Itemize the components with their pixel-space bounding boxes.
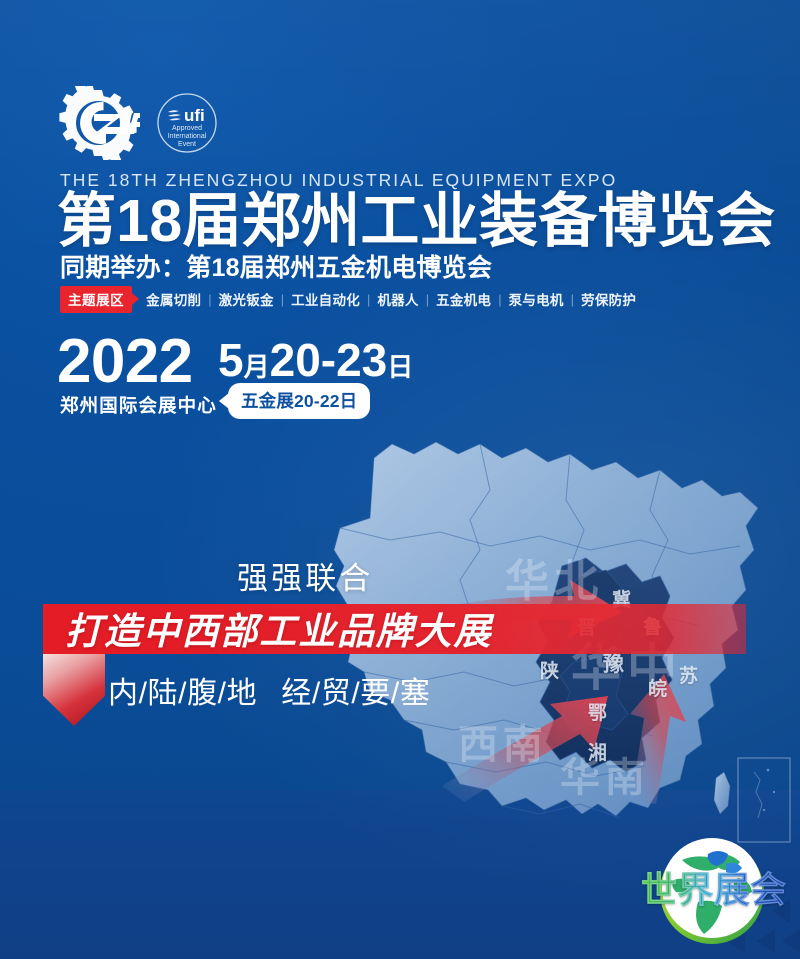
event-days: 20-23 xyxy=(270,334,388,386)
tag-item[interactable]: 金属切削 xyxy=(146,289,201,309)
map-region-label: 西南 xyxy=(458,712,548,770)
svg-text:Approved: Approved xyxy=(172,125,202,132)
tag-separator: | xyxy=(367,292,370,307)
slogan-bottom-left: 内/陆/腹/地 xyxy=(108,677,257,710)
tag-separator: | xyxy=(498,292,501,307)
theme-zone-tag-row: 主题展区 金属切削 | 激光钣金 | 工业自动化 | 机器人 | 五金机电 | … xyxy=(60,288,636,310)
map-province-label: 皖 xyxy=(648,674,667,701)
map-province-label: 陕 xyxy=(540,656,559,683)
svg-text:ufi: ufi xyxy=(184,106,205,125)
page-title: 第18届郑州工业装备博览会 xyxy=(57,190,775,254)
poster-canvas: 华北 华中 西南 华南 冀 鲁 晋 陕 豫 苏 皖 鄂 湘 xyxy=(0,0,800,959)
zif-gear-icon xyxy=(58,86,140,160)
event-month-unit: 月 xyxy=(244,352,270,382)
ribbon-text: 打造中西部工业品牌大展 xyxy=(65,601,492,655)
tag-item[interactable]: 泵与电机 xyxy=(509,289,564,309)
tag-separator: | xyxy=(571,292,574,307)
svg-text:International: International xyxy=(168,133,207,140)
event-year: 2022 xyxy=(57,331,192,393)
tag-separator: | xyxy=(208,292,211,307)
map-taiwan xyxy=(714,772,730,814)
tag-item[interactable]: 劳保防护 xyxy=(581,289,636,309)
ufi-badge-icon: ufi Approved International Event xyxy=(156,92,218,154)
event-day-unit: 日 xyxy=(387,352,413,382)
map-inset-box xyxy=(738,758,790,842)
event-date: 5月20-23日 xyxy=(218,337,413,383)
concurrent-event-subtitle: 同期举办：第18届郑州五金机电博览会 xyxy=(60,248,492,284)
tag-item[interactable]: 工业自动化 xyxy=(291,289,360,309)
map-province-label: 湘 xyxy=(588,738,607,765)
tag-item[interactable]: 激光钣金 xyxy=(219,289,274,309)
event-venue: 郑州国际会展中心 xyxy=(60,392,217,418)
map-province-label: 苏 xyxy=(679,661,698,688)
globe-logo-text: 世界展会 xyxy=(641,861,786,913)
theme-zone-items: 金属切削 | 激光钣金 | 工业自动化 | 机器人 | 五金机电 | 泵与电机 … xyxy=(146,289,636,309)
map-region-label: 华北 xyxy=(505,545,604,609)
tag-separator: | xyxy=(281,292,284,307)
hardware-expo-bubble: 五金展20-22日 xyxy=(228,383,370,419)
tag-item[interactable]: 机器人 xyxy=(377,289,418,309)
tag-separator: | xyxy=(426,292,429,307)
red-ribbon-banner: 打造中西部工业品牌大展 xyxy=(43,604,746,654)
event-month: 5 xyxy=(218,334,244,386)
logo-group: ufi Approved International Event xyxy=(58,86,218,160)
svg-text:Event: Event xyxy=(178,141,196,148)
slogan-bottom: 内/陆/腹/地经/贸/要/塞 xyxy=(108,668,430,712)
slogan-top: 强强联合 xyxy=(237,553,373,598)
map-province-label: 鄂 xyxy=(588,698,607,725)
theme-zone-badge: 主题展区 xyxy=(60,286,132,313)
slogan-bottom-right: 经/贸/要/塞 xyxy=(281,677,430,710)
tag-item[interactable]: 五金机电 xyxy=(436,289,491,309)
